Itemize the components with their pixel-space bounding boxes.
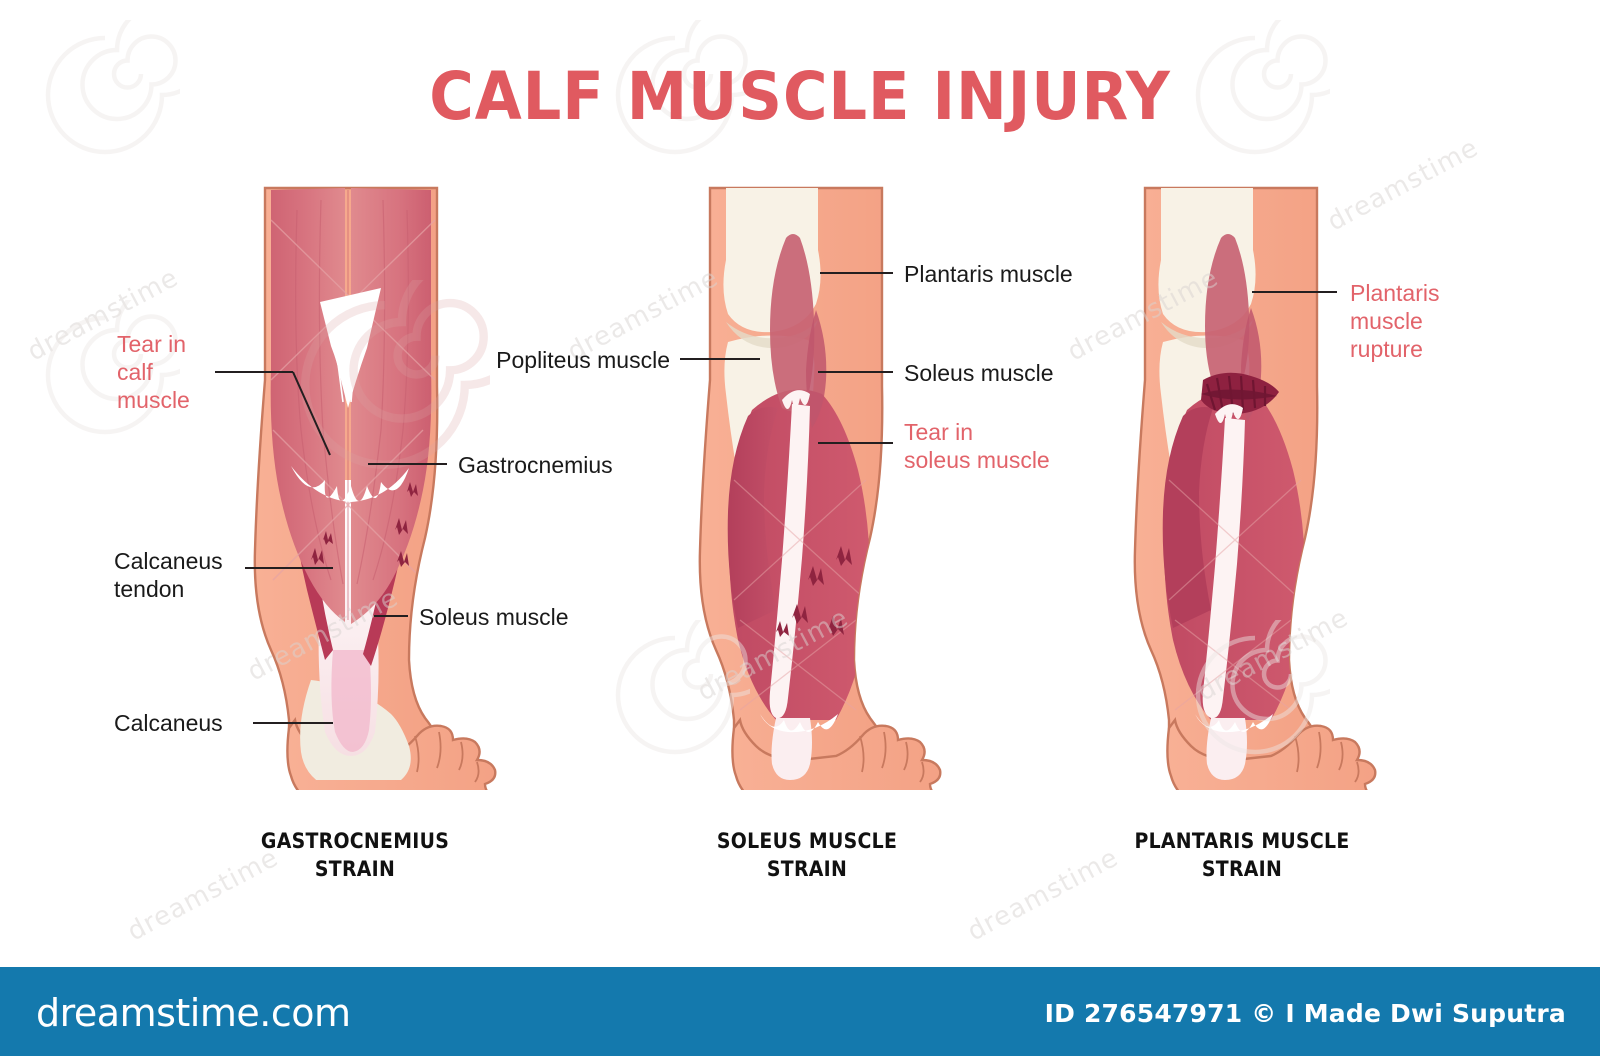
label-plantaris-muscle: Plantaris muscle bbox=[904, 260, 1154, 288]
image-credit: ID 276547971 © I Made Dwi Suputra bbox=[1045, 999, 1566, 1028]
page-title: CALF MUSCLE INJURY bbox=[64, 64, 1536, 130]
dreamstime-logo[interactable]: dreamstime.com bbox=[36, 991, 350, 1035]
label-tear-in-calf-muscle: Tear in calf muscle bbox=[117, 330, 277, 414]
leader-tear-in-calf-muscle-2 bbox=[293, 372, 330, 455]
illustration-canvas: dreamstime dreamstime dreamstime dreamst… bbox=[0, 0, 1600, 1056]
label-calcaneus-tendon: Calcaneus tendon bbox=[114, 547, 304, 603]
caption-line-2: STRAIN bbox=[618, 856, 996, 884]
label-popliteus-muscle: Popliteus muscle bbox=[470, 346, 670, 374]
label-soleus-muscle-fig2: Soleus muscle bbox=[904, 359, 1154, 387]
caption-line-2: STRAIN bbox=[1053, 856, 1431, 884]
label-gastrocnemius: Gastrocnemius bbox=[458, 451, 688, 479]
label-plantaris-muscle-rupture: Plantaris muscle rupture bbox=[1350, 279, 1550, 363]
label-soleus-muscle-fig1: Soleus muscle bbox=[419, 603, 649, 631]
label-calcaneus: Calcaneus bbox=[114, 709, 304, 737]
caption-plantaris-muscle-strain: PLANTARIS MUSCLE STRAIN bbox=[1053, 828, 1431, 883]
caption-line-1: SOLEUS MUSCLE bbox=[618, 828, 996, 856]
caption-line-1: GASTROCNEMIUS bbox=[166, 828, 544, 856]
dreamstime-footer-bar: dreamstime.com ID 276547971 © I Made Dwi… bbox=[0, 967, 1600, 1056]
caption-line-2: STRAIN bbox=[166, 856, 544, 884]
leader-lines bbox=[0, 0, 1600, 960]
dreamstime-logo-text: dreamstime.com bbox=[36, 991, 350, 1035]
caption-soleus-muscle-strain: SOLEUS MUSCLE STRAIN bbox=[618, 828, 996, 883]
label-tear-in-soleus-muscle: Tear in soleus muscle bbox=[904, 418, 1154, 474]
caption-line-1: PLANTARIS MUSCLE bbox=[1053, 828, 1431, 856]
caption-gastrocnemius-strain: GASTROCNEMIUS STRAIN bbox=[166, 828, 544, 883]
